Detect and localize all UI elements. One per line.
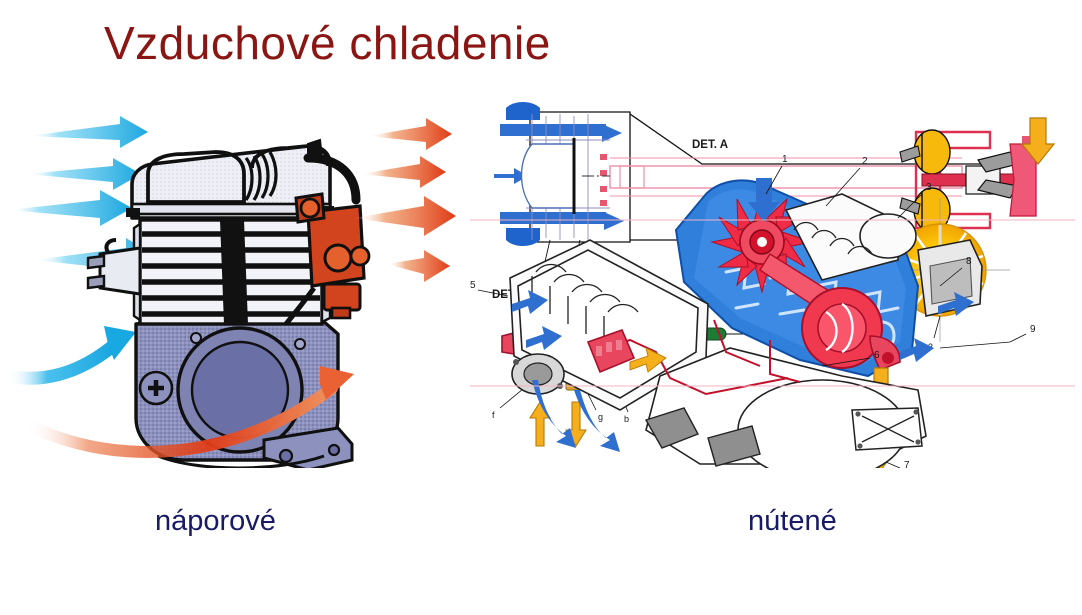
flow-arrow-up bbox=[530, 402, 550, 446]
callout-f: f bbox=[492, 410, 495, 420]
callout-1: 1 bbox=[782, 154, 788, 165]
detail-a-label: DET. A bbox=[692, 139, 728, 151]
callout-8: 8 bbox=[966, 256, 972, 267]
inspection-cover bbox=[852, 408, 922, 450]
engine-crankcase bbox=[136, 308, 352, 468]
callout-g: g bbox=[598, 412, 603, 422]
cool-air-arrow bbox=[28, 116, 148, 148]
hot-air-arrow bbox=[360, 156, 446, 188]
cool-air-arrow bbox=[26, 158, 141, 190]
slide-canvas: Vzduchové chladenie bbox=[0, 0, 1082, 615]
callout-7: 7 bbox=[904, 460, 910, 468]
callout-5: 5 bbox=[470, 280, 476, 291]
cool-air-arrow bbox=[8, 190, 132, 226]
hot-air-arrow bbox=[368, 118, 452, 150]
figure-ram-air-cooling bbox=[8, 88, 478, 468]
hot-air-arrow bbox=[354, 196, 456, 236]
caption-forced-air: nútené bbox=[748, 505, 837, 538]
page-title: Vzduchové chladenie bbox=[104, 16, 551, 70]
callout-6: 6 bbox=[874, 350, 880, 361]
callout-b: b bbox=[624, 414, 629, 424]
callout-3-engine: 3 bbox=[926, 182, 932, 193]
hot-air-arrow bbox=[386, 250, 450, 282]
callout-2: 2 bbox=[862, 156, 868, 167]
caption-ram-air: náporové bbox=[155, 505, 276, 538]
figure-forced-air-cooling: DET. A 1a 1b bbox=[470, 90, 1075, 468]
engine-intake-stub bbox=[88, 240, 140, 294]
engine-single-cylinder bbox=[88, 140, 369, 468]
cool-air-arrow-curved bbox=[8, 326, 136, 378]
ram-air-illustration bbox=[8, 88, 478, 468]
callout-9: 9 bbox=[1030, 324, 1036, 335]
forced-air-illustration: DET. A 1a 1b bbox=[470, 90, 1075, 468]
